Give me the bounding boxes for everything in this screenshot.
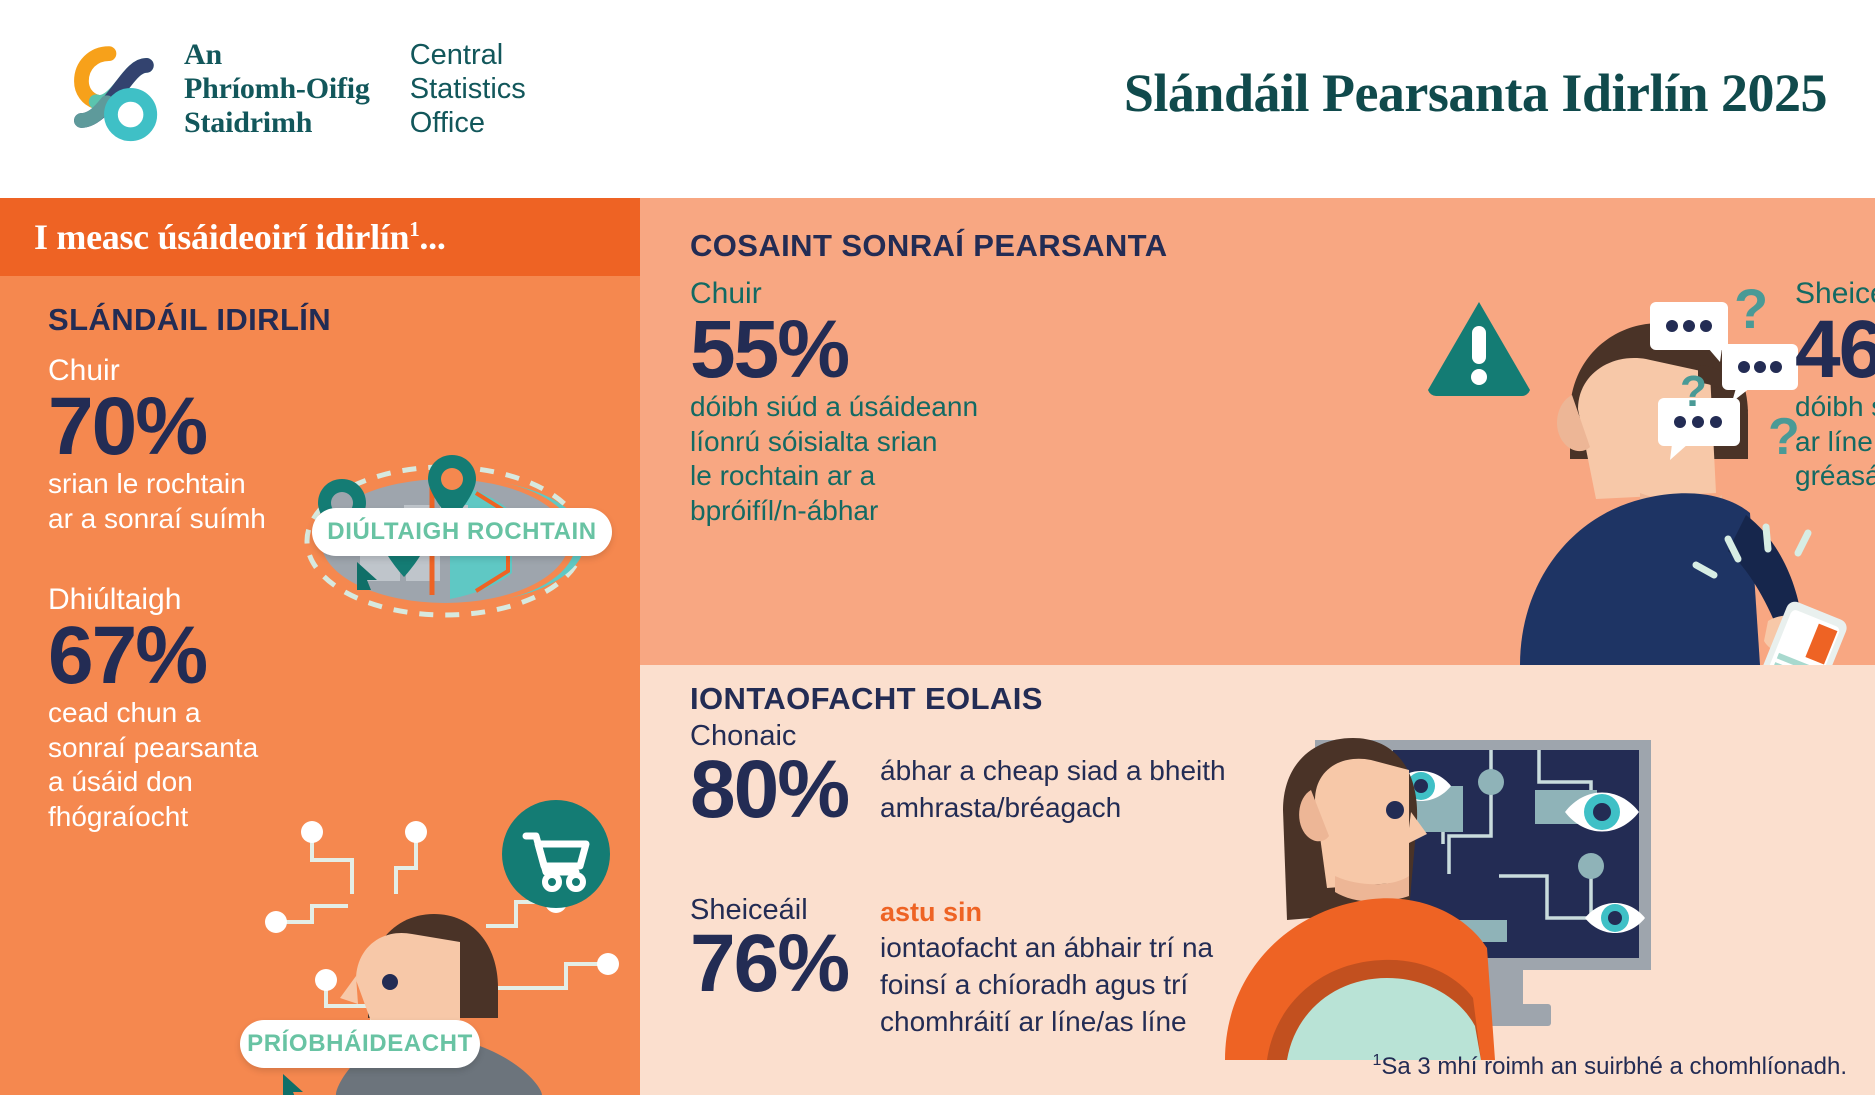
cursor-arrow-icon — [352, 558, 380, 592]
stat-description: dóibh siúd a cheannaigh ar líne go raibh… — [1795, 390, 1875, 494]
logo-text-english: Central Statistics Office — [410, 38, 526, 141]
left-band-main: I measc úsáideoirí idirlín — [34, 217, 409, 257]
stat-lead-label: astu sin — [880, 895, 1213, 930]
stat-description: cead chun a sonraí pearsanta a úsáid don… — [48, 696, 258, 835]
stat-description: ábhar a cheap siad a bheith amhrasta/bré… — [880, 753, 1226, 827]
left-section-title: SLÁNDÁIL IDIRLÍN — [48, 302, 331, 338]
footnote: 1Sa 3 mhí roimh an suirbhé a chomhlíonad… — [1372, 1052, 1847, 1081]
stat-text-column: ábhar a cheap siad a bheith amhrasta/bré… — [880, 721, 1226, 827]
privacy-pill[interactable]: PRÍOBHÁIDEACHT — [240, 1020, 480, 1068]
left-panel-band: I measc úsáideoirí idirlín1... — [0, 198, 640, 276]
left-band-ellipsis: ... — [419, 217, 445, 257]
stat-description: dóibh siúd a úsáideann líonrú sóisialta … — [690, 390, 1010, 529]
deny-access-pill[interactable]: DIÚLTAIGH ROCHTAIN — [312, 508, 612, 556]
footnote-text: Sa 3 mhí roimh an suirbhé a chomhlíonadh… — [1381, 1053, 1847, 1080]
stat-description: iontaofacht an ábhair trí na foinsí a ch… — [880, 930, 1213, 1041]
speech-bubble-icon — [1650, 302, 1728, 362]
stat-value: 55% — [690, 310, 1010, 390]
stat-value: 46% — [1795, 310, 1875, 390]
cso-logo: An Phríomh-Oifig Staidrimh Central Stati… — [48, 30, 526, 148]
stat-text-column: astu sin iontaofacht an ábhair trí na fo… — [880, 895, 1213, 1041]
stat-block-55: Chuir 55% dóibh siúd a úsáideann líonrú … — [690, 278, 1010, 529]
cso-logo-mark — [48, 30, 166, 148]
stat-block-76: Sheiceáil 76% astu sin iontaofacht an áb… — [690, 895, 1213, 1041]
stat-value: 67% — [48, 616, 258, 696]
data-protection-title: COSAINT SONRAÍ PEARSANTA — [690, 228, 1168, 264]
page-title: Slándáil Pearsanta Idirlín 2025 — [1124, 62, 1827, 124]
question-mark-icon: ? — [1680, 367, 1707, 416]
page-header: An Phríomh-Oifig Staidrimh Central Stati… — [0, 0, 1875, 198]
left-panel: I measc úsáideoirí idirlín1... SLÁNDÁIL … — [0, 198, 640, 1095]
information-trust-panel: IONTAOFACHT EOLAIS Chonaic 80% ábhar a c… — [640, 665, 1875, 1095]
speech-bubble-icon — [1722, 344, 1798, 402]
left-band-superscript: 1 — [409, 217, 419, 241]
stat-block-67: Dhiúltaigh 67% cead chun a sonraí pearsa… — [48, 584, 258, 835]
infographic-page: An Phríomh-Oifig Staidrimh Central Stati… — [0, 0, 1875, 1095]
logo-text-irish: An Phríomh-Oifig Staidrimh — [184, 38, 370, 140]
stat-block-80: Chonaic 80% ábhar a cheap siad a bheith … — [690, 721, 1226, 830]
stat-value: 76% — [690, 925, 880, 1004]
stat-description: srian le rochtain ar a sonraí suímh — [48, 467, 266, 536]
information-trust-title: IONTAOFACHT EOLAIS — [690, 681, 1043, 717]
data-protection-panel: COSAINT SONRAÍ PEARSANTA Chuir 55% dóibh… — [640, 198, 1875, 665]
stat-value: 70% — [48, 387, 266, 467]
stat-number-column: Chonaic 80% — [690, 721, 880, 830]
left-band-label: I measc úsáideoirí idirlín1... — [0, 216, 446, 258]
question-mark-icon: ? — [1734, 288, 1768, 340]
stat-block-46: Sheiceáil 46% dóibh siúd a cheannaigh ar… — [1795, 278, 1875, 494]
woman-at-monitor-illustration — [1195, 665, 1695, 1060]
stat-number-column: Sheiceáil 76% — [690, 895, 880, 1004]
shopping-cart-icon — [502, 800, 610, 908]
cursor-arrow-icon — [278, 1070, 306, 1095]
stat-value: 80% — [690, 751, 880, 830]
stat-block-70: Chuir 70% srian le rochtain ar a sonraí … — [48, 355, 266, 536]
